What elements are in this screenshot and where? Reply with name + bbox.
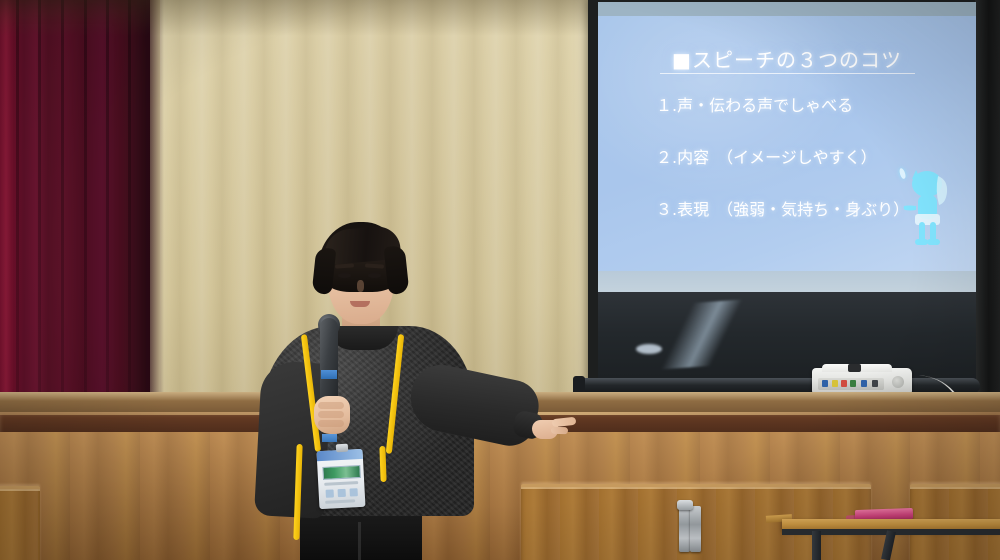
presentation-photo-scene: ■スピーチの３つのコツ １.声・伝わる声でしゃべる ２.内容 （イメージしやすく… — [0, 0, 1000, 560]
side-table-leg-left — [812, 531, 821, 560]
presenter-pointing-hand — [532, 418, 576, 440]
presenter-eye-left — [338, 273, 351, 278]
maroon-stage-curtain — [0, 0, 150, 415]
screen-glare-spot — [636, 344, 662, 354]
left-panel-door[interactable] — [0, 486, 40, 560]
presenter-mouth — [350, 301, 370, 307]
handheld-microphone — [320, 318, 338, 400]
presenter-eye-right — [368, 273, 381, 278]
trouser-center-seam — [358, 522, 361, 560]
projector-lens-icon — [848, 364, 861, 372]
slide-title-underline — [660, 73, 915, 74]
slide-bullet-3: ３.表現 （強弱・気持ち・身ぶり） — [656, 196, 909, 220]
panel-door-latch[interactable] — [679, 506, 690, 552]
presenter-microphone-hand — [314, 390, 354, 436]
screen-lower-dark-panel — [598, 292, 976, 384]
panel-door-latch-right[interactable] — [690, 506, 701, 552]
microphone-blue-band — [321, 370, 337, 379]
badge-name-band — [322, 465, 361, 480]
screen-frame-right-edge — [975, 0, 1000, 392]
mic-hand-knuckle-1 — [318, 402, 344, 409]
pointing-index-finger — [552, 417, 577, 427]
slide-bullet-1: １.声・伝わる声でしゃべる — [656, 92, 853, 116]
presenter-nose — [357, 280, 364, 292]
id-name-badge — [317, 449, 366, 509]
presenter-hair-side-right — [384, 245, 410, 295]
pointing-middle-finger — [551, 427, 568, 435]
curtain-edge-shadow — [146, 0, 164, 415]
slide-bullet-2: ２.内容 （イメージしやすく） — [656, 144, 877, 168]
panel-door-latch-knob[interactable] — [677, 500, 693, 510]
screen-glare — [646, 298, 770, 370]
presenter-figure — [240, 222, 570, 560]
lanyard-strap-right-lower — [379, 446, 386, 482]
projection-screen-surface: ■スピーチの３つのコツ １.声・伝わる声でしゃべる ２.内容 （イメージしやすく… — [598, 2, 976, 292]
mic-hand-knuckle-3 — [318, 420, 344, 427]
mic-hand-knuckle-2 — [318, 411, 344, 418]
dog-mascot-icon — [894, 164, 960, 250]
slide-title: ■スピーチの３つのコツ — [598, 44, 976, 73]
badge-clip — [336, 444, 348, 453]
presentation-slide: ■スピーチの３つのコツ １.声・伝わる声でしゃべる ２.内容 （イメージしやすく… — [598, 16, 976, 271]
